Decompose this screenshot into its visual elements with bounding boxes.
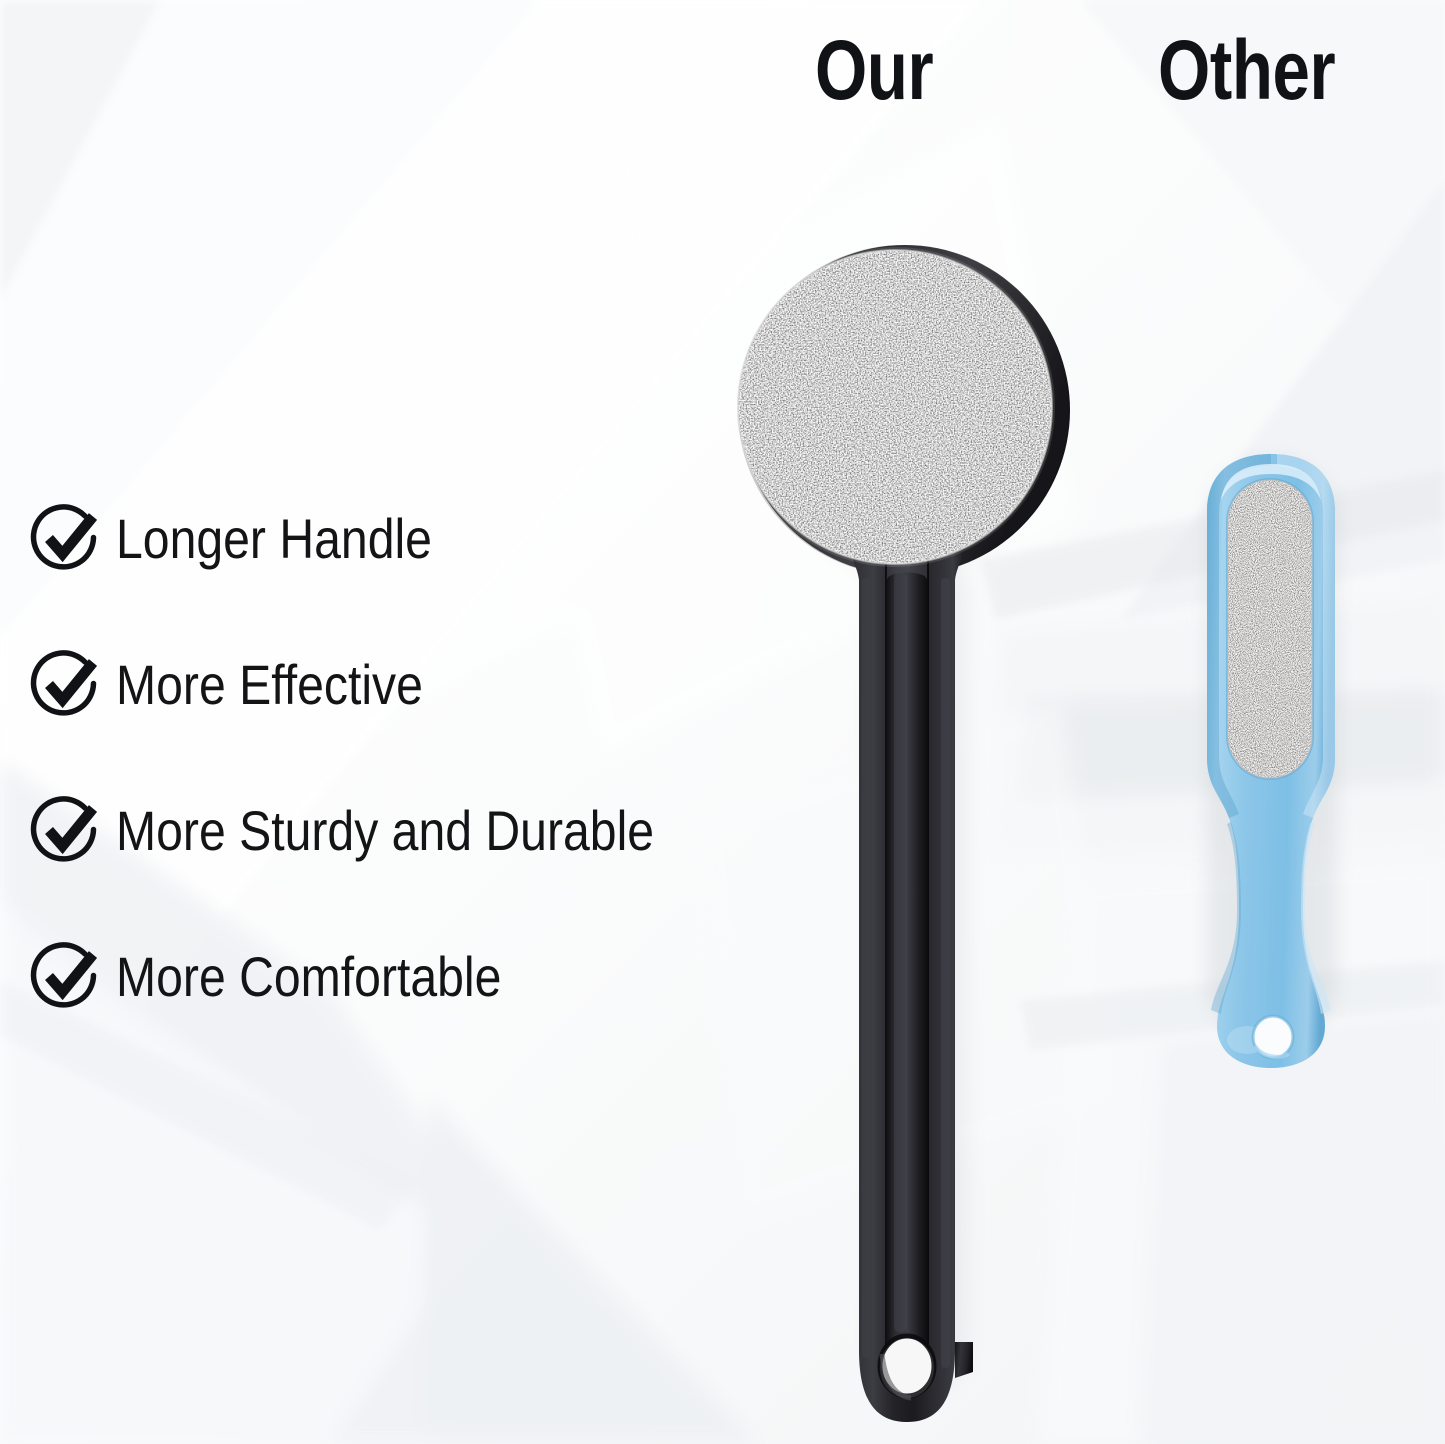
product-image-other [1185,440,1365,1070]
feature-label: More Sturdy and Durable [116,803,654,859]
long-handle-pumice-svg [735,110,1075,1440]
list-item: More Effective [30,651,810,719]
column-heading-our: Our [815,22,933,119]
list-item: Longer Handle [30,505,810,573]
check-circle-icon [30,795,102,867]
list-item: More Comfortable [30,943,810,1011]
product-comparison-image: Our Other Longer Handle More Effective [0,0,1445,1444]
feature-label: More Effective [116,657,423,713]
feature-benefit-list: Longer Handle More Effective More Sturdy… [30,505,810,1089]
feature-label: More Comfortable [116,949,501,1005]
blue-foot-file-svg [1185,440,1365,1070]
feature-label: Longer Handle [116,511,432,567]
check-circle-icon [30,941,102,1013]
pumice-pad-other [1226,478,1314,780]
product-image-ours [735,110,1075,1440]
product-handle-ours [846,505,973,1422]
list-item: More Sturdy and Durable [30,797,810,865]
column-heading-other: Other [1158,22,1335,119]
check-circle-icon [30,649,102,721]
check-circle-icon [30,503,102,575]
pumice-stone-ours [738,250,1052,564]
